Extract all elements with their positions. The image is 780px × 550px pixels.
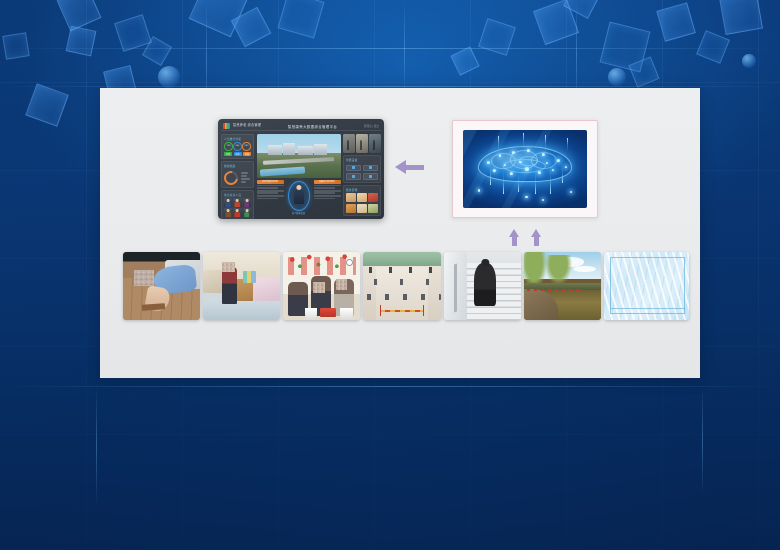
- meal-thumbnail-grid: [346, 193, 378, 213]
- table-row: [257, 187, 278, 189]
- deco-line: [0, 48, 780, 49]
- person-thumbnail[interactable]: [243, 198, 251, 207]
- smart-device-icon-grid: [346, 164, 378, 180]
- camera-tile[interactable]: [369, 134, 381, 154]
- brain-node: [546, 162, 548, 164]
- photo-barrier: [380, 310, 423, 312]
- arrow-shaft: [534, 235, 539, 246]
- meal-thumbnail[interactable]: [346, 193, 356, 202]
- device-icon-cell[interactable]: [346, 173, 361, 180]
- arrow-shaft: [512, 235, 517, 246]
- legend-line: [241, 172, 248, 174]
- data-beam: [498, 136, 499, 153]
- deco-square: [600, 22, 651, 73]
- privacy-mosaic: [134, 270, 154, 286]
- deco-square: [450, 46, 479, 75]
- photo-willow-tree: [545, 255, 571, 285]
- content-panel: 智慧养老 综合管理 智慧康养大数据综合管理平台 管理员 | 退出 人员统计分析 …: [100, 88, 700, 378]
- data-beam: [545, 135, 546, 154]
- photo-red-box: [320, 308, 335, 318]
- table-row: [257, 190, 284, 192]
- deco-square: [114, 14, 152, 52]
- privacy-mosaic: [313, 282, 325, 293]
- camera-preview-strip[interactable]: [343, 134, 381, 154]
- arrow-data-to-ai-1: [509, 229, 520, 246]
- gauge-in-residence: 128: [224, 142, 233, 151]
- legend-line: [241, 181, 246, 183]
- deco-square: [656, 2, 696, 42]
- table-row: [257, 192, 278, 194]
- deco-line: [0, 386, 780, 387]
- deco-square: [189, 0, 250, 37]
- deco-circle: [608, 68, 626, 86]
- brain-node: [493, 169, 496, 172]
- photo-people-row: [363, 267, 440, 273]
- dashboard-topbar: 智慧养老 综合管理 智慧康养大数据综合管理平台 管理员 | 退出: [221, 122, 381, 131]
- table-row: [314, 190, 341, 192]
- brain-node: [519, 161, 521, 163]
- meal-thumbnail[interactable]: [368, 204, 378, 213]
- photo-handrail: [454, 264, 457, 313]
- photo-people-row: [363, 294, 440, 300]
- deco-square: [628, 56, 659, 87]
- table-row: [314, 195, 341, 197]
- key-persons-card: 重点关注人员: [221, 190, 254, 220]
- device-icon: [352, 166, 355, 169]
- video-building: [314, 144, 327, 155]
- video-building: [268, 145, 281, 155]
- dashboard-body: 人员统计分析 128 064 032 正常 在线 告警 健: [221, 131, 381, 216]
- ambient-node: [525, 196, 528, 199]
- ai-digital-brain-image: [463, 130, 587, 208]
- ai-brain-panel: [452, 120, 598, 218]
- smart-device-title: 智能设备: [346, 158, 378, 162]
- dashboard-title: 智慧康养大数据综合管理平台: [264, 124, 361, 129]
- dashboard-right-column: 智能设备 膳食管理: [343, 134, 381, 217]
- elder-avatar-label: 老人基本信息: [286, 211, 312, 215]
- table-row: [257, 195, 284, 197]
- deco-square: [533, 0, 579, 45]
- video-building: [283, 143, 295, 154]
- photo-inner-frame: [610, 257, 685, 313]
- deco-square: [696, 30, 730, 64]
- status-button-online[interactable]: 在线: [234, 152, 242, 156]
- photo-bedroom-elderly[interactable]: 居室看护: [203, 252, 280, 320]
- gauge-row: 128 064 032: [224, 142, 251, 151]
- deco-square: [57, 0, 102, 31]
- alarm-list-header: 实时告警信息列表: [257, 180, 284, 184]
- photo-basin: [340, 308, 352, 319]
- ambient-node: [570, 191, 572, 193]
- privacy-mosaic: [336, 279, 348, 290]
- dashboard-user-menu[interactable]: 管理员 | 退出: [364, 124, 379, 128]
- photo-railing: [527, 289, 581, 291]
- campus-3d-monitor-video[interactable]: [257, 134, 341, 178]
- brain-node: [525, 167, 528, 170]
- deco-circle: [742, 54, 756, 68]
- gauges-card: 人员统计分析 128 064 032 正常 在线 告警: [221, 134, 254, 160]
- camera-tile[interactable]: [343, 134, 355, 154]
- photo-floor: [203, 301, 280, 320]
- meal-thumbnail[interactable]: [357, 204, 367, 213]
- data-beam: [490, 164, 491, 184]
- photo-post: [423, 305, 425, 316]
- photo-activity-room[interactable]: 活动室: [283, 252, 360, 320]
- person-thumbnail[interactable]: [224, 198, 232, 207]
- donut-legend: [241, 172, 251, 182]
- meal-thumbnail[interactable]: [346, 204, 356, 213]
- photo-clock: [346, 259, 353, 266]
- data-beam: [535, 172, 536, 194]
- deco-square: [142, 36, 172, 66]
- data-beam: [562, 166, 563, 183]
- gauge-alerts: 032: [242, 142, 251, 151]
- meal-management-card: 膳食管理: [343, 185, 381, 216]
- deco-line: [404, 0, 405, 98]
- deco-square: [231, 7, 272, 48]
- smart-device-card: 智能设备: [343, 155, 381, 183]
- arrow-data-to-ai-2: [531, 229, 542, 246]
- photo-bed-right: [254, 278, 280, 301]
- deco-square: [66, 26, 97, 57]
- photo-post: [380, 305, 382, 316]
- gauge-in-bed: 064: [233, 142, 242, 151]
- photo-bottles: [243, 271, 255, 283]
- person-thumbnail[interactable]: [233, 198, 241, 207]
- dashboard-middle-column: 实时告警信息列表 老人基: [257, 134, 341, 217]
- meal-thumbnail[interactable]: [368, 193, 378, 202]
- health-record-card: 健康档案: [221, 161, 254, 188]
- ambient-node: [542, 199, 544, 201]
- table-row: [257, 185, 284, 187]
- legend-line: [241, 178, 250, 180]
- brain-node: [557, 159, 560, 162]
- arrow-to-dashboard: [395, 160, 425, 174]
- deco-line: [0, 86, 780, 87]
- status-button-alarm[interactable]: 告警: [243, 152, 251, 156]
- elder-profile-column: 老人基本信息: [286, 180, 312, 217]
- data-beam: [503, 171, 504, 194]
- privacy-mosaic: [222, 262, 234, 272]
- data-beam: [523, 133, 524, 149]
- gauges-card-title: 人员统计分析: [224, 137, 251, 141]
- camera-tile[interactable]: [356, 134, 368, 154]
- deco-square: [25, 83, 69, 127]
- photo-fall-detection[interactable]: 跌倒检测: [123, 252, 200, 320]
- legend-line: [241, 175, 247, 177]
- data-beam: [567, 138, 568, 152]
- deco-square: [277, 0, 324, 39]
- arrow-shaft: [405, 165, 424, 170]
- deco-square: [563, 0, 601, 19]
- dashboard-bottom-row: 实时告警信息列表 老人基: [257, 180, 341, 217]
- dashboard-logo-text: 智慧养老 综合管理: [233, 124, 261, 127]
- dashboard-logo-icon: [223, 123, 230, 129]
- photo-strip: 跌倒检测 居室看护: [123, 252, 689, 320]
- photo-person: [474, 263, 496, 307]
- deco-square: [719, 0, 763, 35]
- meal-management-title: 膳食管理: [346, 188, 378, 192]
- table-row: [314, 192, 335, 194]
- health-record-title: 健康档案: [224, 164, 251, 168]
- photo-courtyard-people[interactable]: 院区人流: [363, 252, 440, 320]
- ambient-node: [478, 189, 480, 191]
- key-persons-grid: [224, 198, 251, 217]
- device-icon-cell[interactable]: [363, 173, 378, 180]
- photo-stairs-walking[interactable]: 楼梯行走: [444, 252, 521, 320]
- deco-line: [702, 386, 703, 496]
- person-thumbnail[interactable]: [233, 208, 241, 217]
- photo-park-pond[interactable]: 园区环境: [524, 252, 601, 320]
- photo-people-row: [363, 279, 440, 285]
- deco-circle: [158, 66, 180, 88]
- key-persons-title: 重点关注人员: [224, 193, 251, 197]
- photo-basin: [305, 308, 317, 319]
- dashboard-left-column: 人员统计分析 128 064 032 正常 在线 告警 健: [221, 134, 254, 217]
- deco-line: [96, 386, 97, 506]
- donut-chart-wrap: [224, 170, 251, 185]
- table-row: [314, 198, 335, 200]
- table-row: [257, 198, 278, 200]
- device-icon: [369, 166, 372, 169]
- brain-node: [565, 166, 567, 168]
- alarm-list-rows: [257, 185, 284, 200]
- meal-thumbnail[interactable]: [357, 193, 367, 202]
- brain-graphic: [478, 146, 572, 182]
- person-thumbnail[interactable]: [224, 208, 232, 217]
- device-icon: [352, 175, 355, 178]
- device-icon: [369, 175, 372, 178]
- alarm-list-column: 实时告警信息列表: [257, 180, 284, 217]
- elder-avatar[interactable]: [288, 181, 310, 211]
- table-row: [314, 187, 335, 189]
- data-beam: [518, 174, 519, 193]
- device-icon-cell[interactable]: [346, 165, 361, 172]
- deco-square: [478, 18, 516, 56]
- management-dashboard-screenshot[interactable]: 智慧养老 综合管理 智慧康养大数据综合管理平台 管理员 | 退出 人员统计分析 …: [218, 119, 384, 219]
- device-status-header: 设备运行状态统计: [314, 180, 341, 184]
- video-building: [298, 146, 313, 155]
- person-thumbnail[interactable]: [243, 208, 251, 217]
- device-status-column: 设备运行状态统计: [314, 180, 341, 217]
- slide-root: 智慧养老 综合管理 智慧康养大数据综合管理平台 管理员 | 退出 人员统计分析 …: [0, 0, 780, 550]
- deco-square: [2, 32, 29, 59]
- photo-person: [222, 267, 237, 304]
- brain-node: [538, 171, 540, 173]
- status-button-normal[interactable]: 正常: [224, 152, 232, 156]
- photo-abstract-blue[interactable]: 数据纹理: [604, 252, 689, 320]
- device-icon-cell[interactable]: [363, 165, 378, 172]
- photo-inner-line: [610, 308, 685, 309]
- device-status-rows: [314, 185, 341, 200]
- data-beam: [550, 169, 551, 194]
- table-row: [314, 185, 341, 187]
- status-button-row: 正常 在线 告警: [224, 152, 251, 156]
- donut-chart: [221, 168, 240, 187]
